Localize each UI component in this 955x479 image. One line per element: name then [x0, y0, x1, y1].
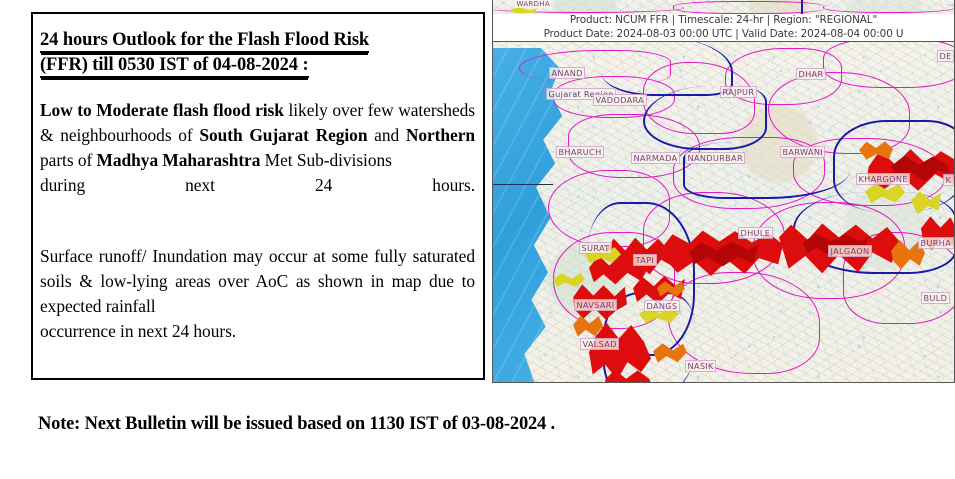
map-label-jalgaon: JALGAON: [828, 245, 872, 257]
map-label-bharuch: BHARUCH: [556, 146, 604, 158]
outlook-text-box: 24 hours Outlook for the Flash Flood Ris…: [31, 12, 485, 380]
map-label-rajpur: RAJPUR: [720, 86, 757, 98]
map-label-narmada: NARMADA: [631, 152, 680, 164]
paragraph-2-text: Surface runoff/ Inundation may occur at …: [40, 246, 475, 316]
map-label-surat: SURAT: [579, 242, 612, 254]
map-meta-line-2: Product Date: 2024-08-03 00:00 UTC | Val…: [493, 28, 954, 42]
next-bulletin-note: Note: Next Bulletin will be issued based…: [38, 414, 555, 435]
map-strip-label: WARDHA: [515, 0, 551, 8]
map-label-nasik: NASIK: [685, 360, 716, 372]
map-label-dhar: DHAR: [796, 68, 826, 80]
region-northern: Northern: [406, 125, 475, 145]
map-label-valsad: VALSAD: [580, 338, 619, 350]
map-label-tapi: TAPI: [633, 254, 657, 266]
outlook-heading-line2: (FFR) till 0530 IST of 04-08-2024 :: [40, 55, 309, 78]
map-metadata: Product: NCUM FFR | Timescale: 24-hr | R…: [492, 14, 955, 41]
map-label-khargone: KHARGONE: [856, 173, 910, 185]
map-label-barwani: BARWANI: [780, 146, 825, 158]
map-label-dhule: DHULE: [738, 227, 773, 239]
map-image[interactable]: ANAND Gujarat Region VADODARA RAJPUR DHA…: [492, 41, 955, 383]
outlook-paragraph-1: Low to Moderate flash flood risk likely …: [40, 98, 475, 223]
map-meta-line-1: Product: NCUM FFR | Timescale: 24-hr | R…: [493, 14, 954, 28]
map-label-nandurbar: NANDURBAR: [685, 152, 745, 164]
sea-latitude-line: [493, 184, 553, 185]
map-canvas: ANAND Gujarat Region VADODARA RAJPUR DHA…: [493, 42, 954, 382]
strip-state-line: [801, 0, 803, 14]
paragraph-2-lastline: occurrence in next 24 hours.: [40, 319, 475, 344]
map-label-anand: ANAND: [549, 67, 585, 79]
paragraph-1-text-2: and: [367, 125, 405, 145]
paragraph-1-lastline: during next 24 hours.: [40, 173, 475, 223]
region-south-gujarat: South Gujarat Region: [199, 125, 367, 145]
map-strip-top: WARDHA: [492, 0, 955, 14]
map-label-k: K: [943, 174, 954, 186]
map-label-navsari: NAVSARI: [574, 299, 617, 311]
paragraph-1-text-3: parts of: [40, 150, 97, 170]
map-label-de: DE: [937, 50, 954, 62]
flash-flood-risk-map-panel: WARDHA Product: NCUM FFR | Timescale: 24…: [492, 0, 955, 384]
risk-level-phrase: Low to Moderate flash flood risk: [40, 100, 284, 120]
map-label-dangs: DANGS: [644, 300, 680, 312]
outlook-paragraph-2: Surface runoff/ Inundation may occur at …: [40, 244, 475, 344]
strip-district-line-3: [823, 2, 955, 13]
map-label-burhanpur: BURHA: [918, 237, 954, 249]
region-madhya-maharashtra: Madhya Maharashtra: [97, 150, 261, 170]
district-boundary-6: [823, 42, 954, 88]
bulletin-page: 24 hours Outlook for the Flash Flood Ris…: [0, 0, 955, 479]
map-label-vadodara: VADODARA: [593, 94, 647, 106]
outlook-heading-line1: 24 hours Outlook for the Flash Flood Ris…: [40, 30, 369, 53]
map-label-buldhana: BULD: [921, 292, 950, 304]
paragraph-1-text-4: Met Sub-divisions: [260, 150, 391, 170]
outlook-heading: 24 hours Outlook for the Flash Flood Ris…: [40, 28, 475, 78]
